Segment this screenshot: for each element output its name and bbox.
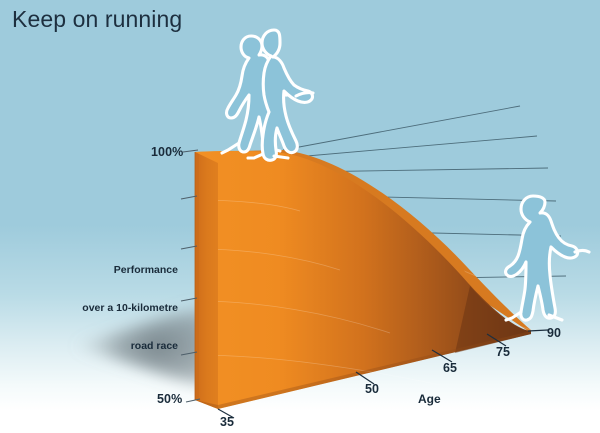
x-axis-tick-90: 90 [547, 326, 561, 340]
x-axis-tick-50: 50 [365, 382, 379, 396]
x-axis-tick-75: 75 [496, 345, 510, 359]
page-title: Keep on running [12, 6, 182, 33]
y-axis-bottom-label: 50% [157, 392, 182, 406]
y-axis-caption-line-1: Performance [82, 264, 178, 277]
y-axis-top-label: 100% [151, 145, 183, 159]
x-axis-label: Age [418, 392, 441, 406]
x-axis-tick-65: 65 [443, 361, 457, 375]
y-axis-caption-line-2: over a 10-kilometre [82, 302, 178, 315]
performance-curve-solid [195, 150, 531, 409]
walker-figure [506, 196, 589, 320]
y-axis-caption-line-3: road race [82, 340, 178, 353]
x-axis-tick-35: 35 [220, 415, 234, 429]
infographic-canvas: Keep on running 100% 50% Performance ove… [0, 0, 600, 433]
runners-figure-group [222, 30, 313, 160]
y-axis-caption: Performance over a 10-kilometre road rac… [82, 239, 178, 378]
